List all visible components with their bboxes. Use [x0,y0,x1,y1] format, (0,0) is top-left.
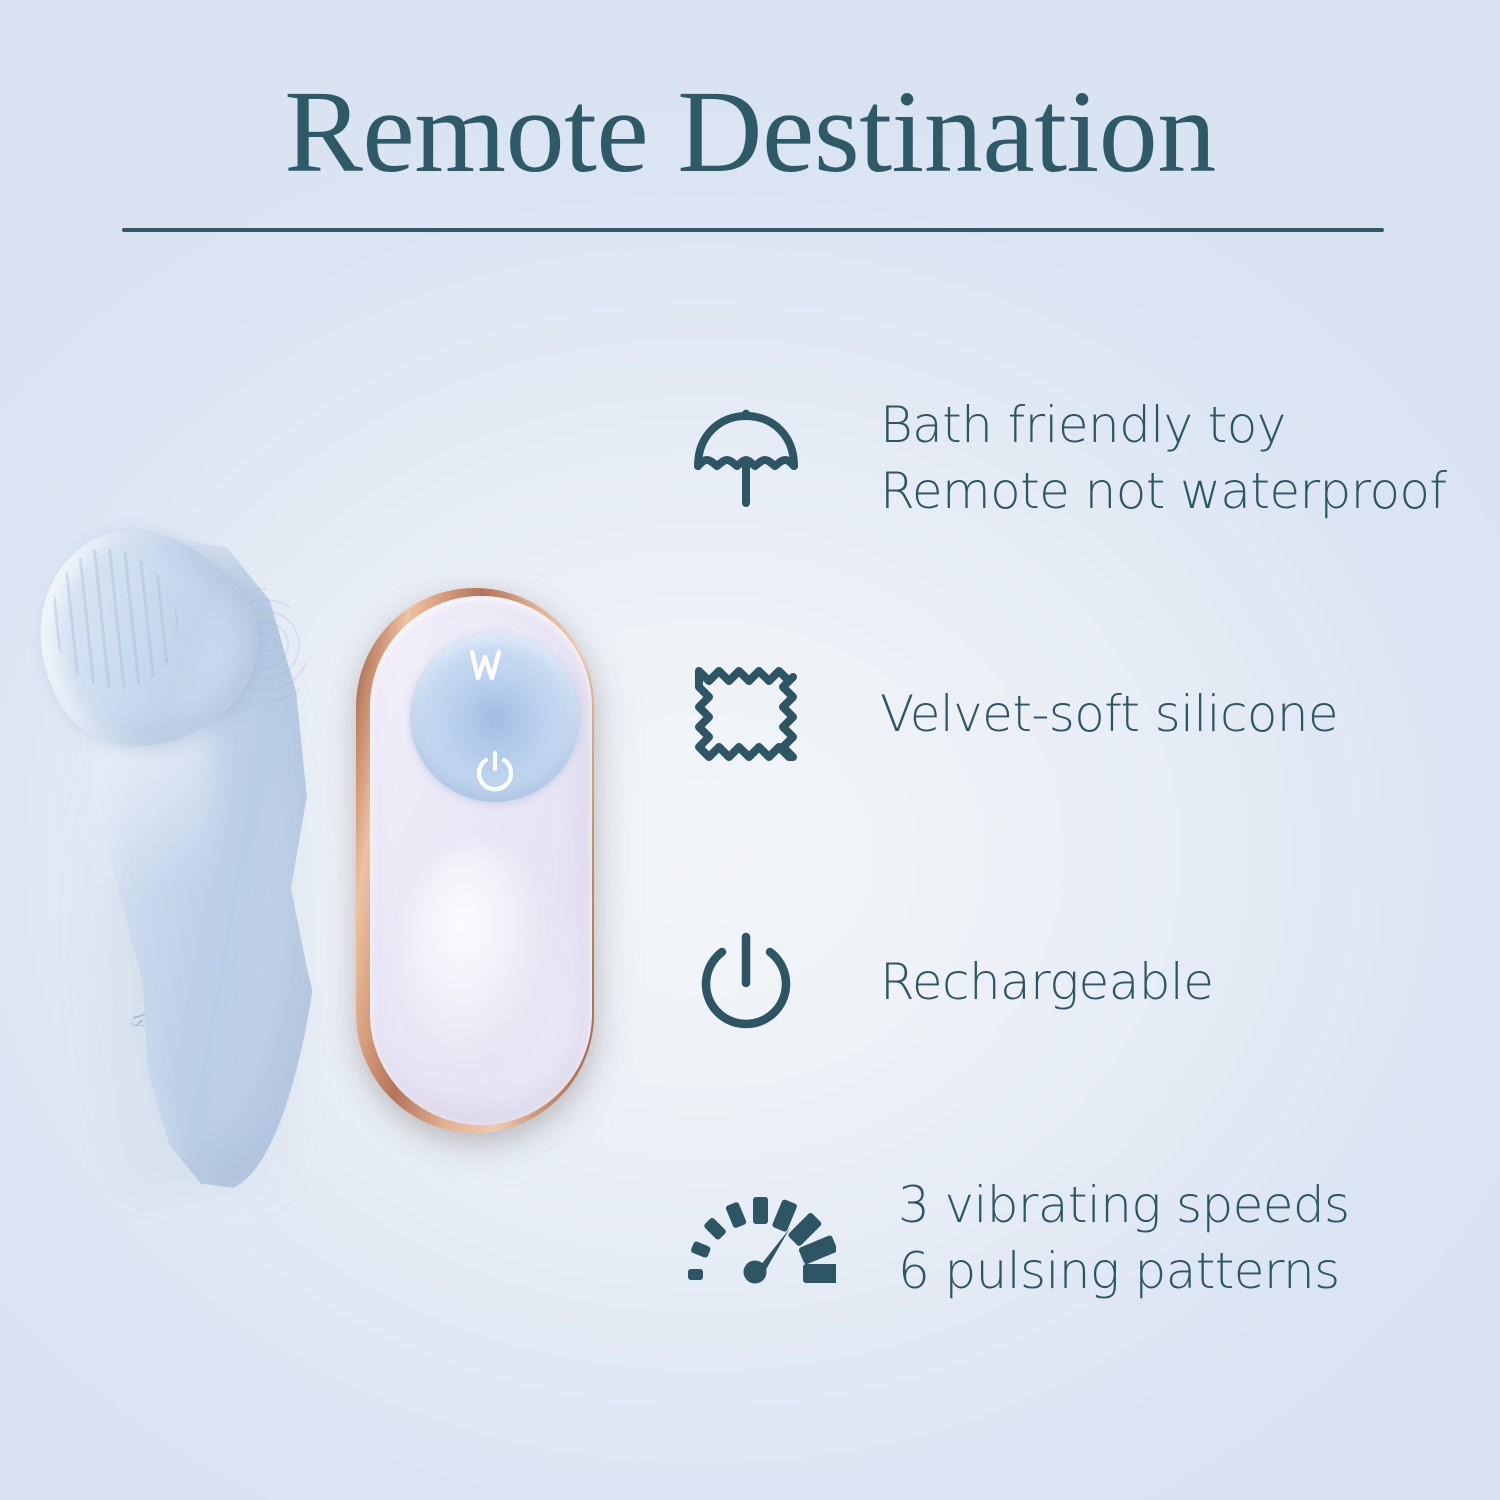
remote-button[interactable] [410,632,580,802]
feature-item-rechargeable: Rechargeable [686,922,1476,1042]
remote-body-sheen [404,846,554,1076]
remote-rose-gold-rim [356,588,594,1133]
feature-line: Rechargeable [880,949,1476,1015]
feature-line: 6 pulsing patterns [898,1238,1476,1304]
feature-line: Remote not waterproof [880,458,1476,524]
feature-item-speeds-patterns: 3 vibrating speeds 6 pulsing patterns [686,1172,1476,1304]
feature-line: Velvet-soft silicone [880,681,1476,747]
remote-body [370,596,592,1125]
page-title: Remote Destination [0,72,1500,192]
feature-line: 3 vibrating speeds [898,1172,1476,1238]
umbrella-icon [686,398,806,518]
feature-text-velvet-soft-silicone: Velvet-soft silicone [880,681,1476,747]
feature-text-rechargeable: Rechargeable [880,949,1476,1015]
fabric-swatch-icon [686,654,806,774]
feature-text-bath-friendly: Bath friendly toy Remote not waterproof [880,392,1476,524]
infographic-canvas: Remote Destination ly [0,0,1500,1500]
feature-text-speeds-patterns: 3 vibrating speeds 6 pulsing patterns [898,1172,1476,1304]
silicone-toy-image: ly [35,510,355,1210]
title-block: Remote Destination [0,72,1500,192]
title-divider [122,228,1384,232]
feature-line: Bath friendly toy [880,392,1476,458]
feature-item-bath-friendly: Bath friendly toy Remote not waterproof [686,392,1476,524]
speedometer-icon [686,1178,836,1298]
feature-item-velvet-soft-silicone: Velvet-soft silicone [686,654,1476,774]
wave-icon [468,648,522,682]
remote-button-dimple [456,684,534,756]
remote-control-image [350,588,620,1158]
power-icon [686,922,806,1042]
power-icon [472,748,518,794]
product-image-area: ly [0,500,660,1220]
